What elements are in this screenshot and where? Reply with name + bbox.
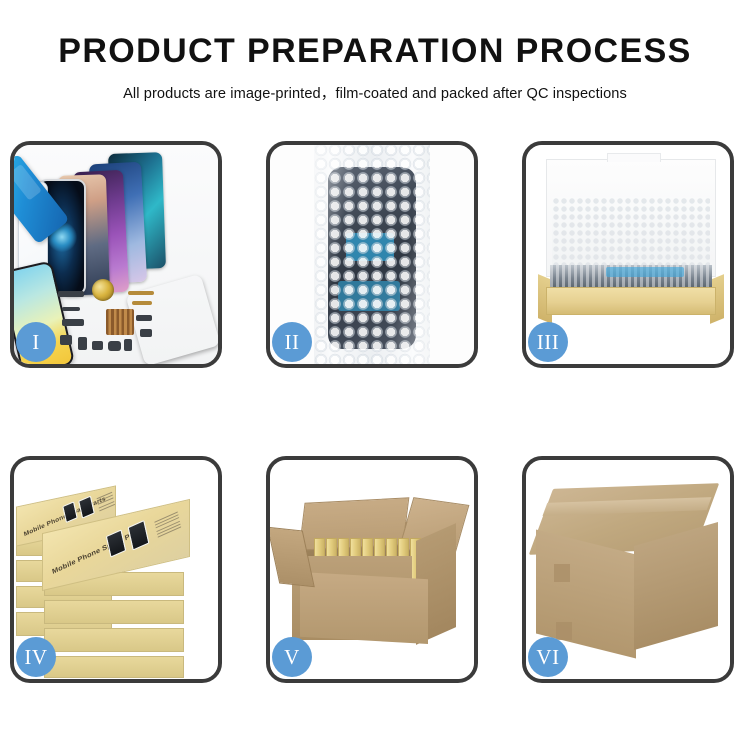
foam-liner [552, 197, 710, 269]
step-badge-1: I [16, 322, 56, 362]
part-block-1 [60, 335, 72, 345]
carton-seam-patch-bottom [556, 622, 572, 640]
process-step-5: V [266, 456, 478, 683]
step-badge-2: II [272, 322, 312, 362]
process-step-6: VI [522, 456, 734, 683]
part-bar-2 [62, 319, 84, 326]
part-block-2 [78, 337, 87, 350]
step-badge-4: IV [16, 637, 56, 677]
process-step-2: II [266, 141, 478, 368]
part-bar-1 [58, 291, 84, 297]
part-block-6 [140, 329, 152, 337]
stacked-box-front-3 [44, 628, 184, 652]
process-step-3: III [522, 141, 734, 368]
box-base-front-kraft [546, 287, 716, 315]
product-blue-accent [606, 267, 684, 277]
process-step-grid: I II III [10, 141, 740, 685]
product-preparation-infographic: PRODUCT PREPARATION PROCESS All products… [0, 0, 750, 750]
carton-seam-patch-top [554, 564, 570, 582]
sealed-carton-right-face [634, 522, 718, 650]
connector-chip-part [106, 309, 134, 335]
page-title: PRODUCT PREPARATION PROCESS [0, 34, 750, 70]
speaker-coil-part [92, 279, 114, 301]
page-subtitle: All products are image-printed，film-coat… [0, 82, 750, 103]
carton-front-face [300, 572, 428, 644]
flex-cable-3 [62, 307, 80, 311]
stacked-box-front-2 [44, 600, 184, 624]
step-badge-3: III [528, 322, 568, 362]
part-bar-3 [136, 315, 152, 321]
plastic-sheen-overlay [314, 145, 430, 364]
part-block-4 [108, 341, 121, 351]
step-badge-6: VI [528, 637, 568, 677]
flex-cable-2 [132, 301, 152, 305]
stacked-box-front-4 [44, 656, 184, 678]
flex-cable-1 [128, 291, 154, 295]
part-block-5 [124, 339, 132, 351]
header: PRODUCT PREPARATION PROCESS All products… [0, 0, 750, 103]
part-block-3 [92, 341, 103, 350]
process-step-4: Mobile Phone Spare Parts [10, 456, 222, 683]
process-step-1: I [10, 141, 222, 368]
spare-parts-cluster [58, 285, 178, 363]
step-badge-5: V [272, 637, 312, 677]
